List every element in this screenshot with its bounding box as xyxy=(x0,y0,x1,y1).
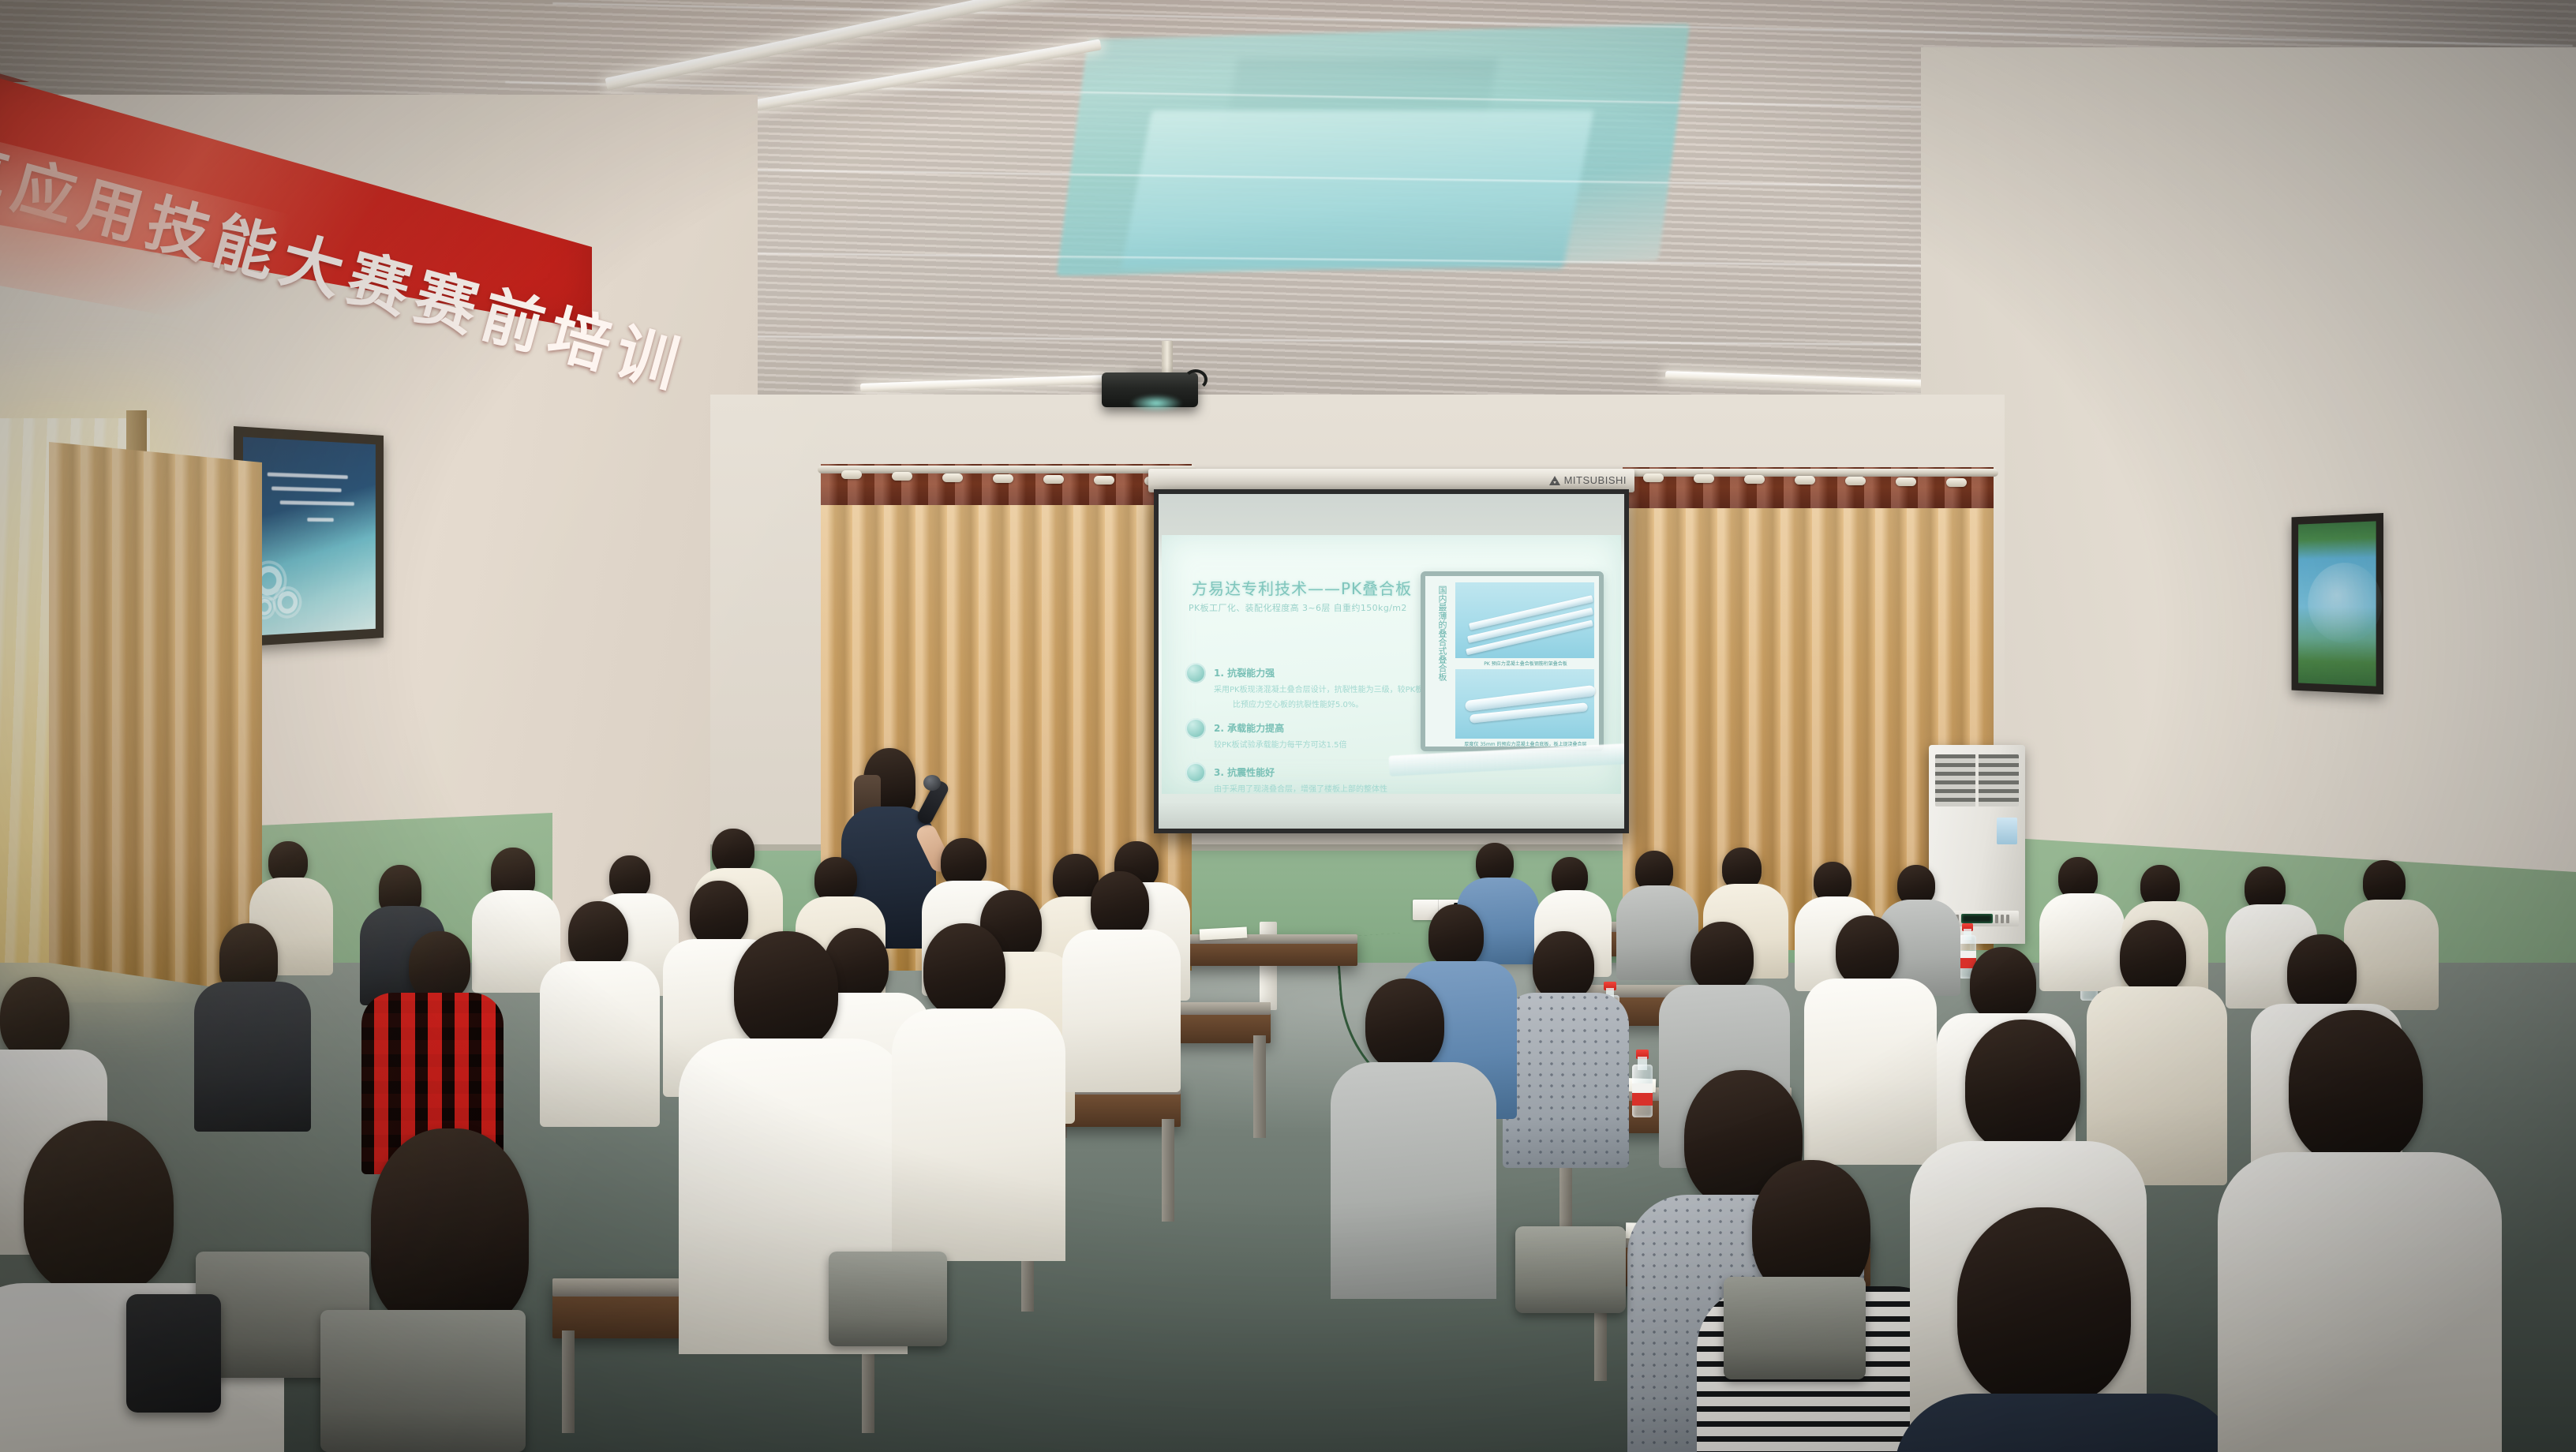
head xyxy=(1365,979,1444,1070)
torso xyxy=(1331,1062,1496,1299)
slide-bullet-1: 1. 抗裂能力强 采用PK板现浇混凝土叠合层设计，抗裂性能为三级，较PK板提高2… xyxy=(1185,666,1459,709)
torso xyxy=(1804,979,1937,1165)
slide-photo-top xyxy=(1455,582,1594,658)
classroom-seminar-photo: 真应用技能大赛赛前培训 xyxy=(0,0,2576,1452)
slide-bullet-2: 2. 承载能力提高 较PK板试验承载能力每平方可达1.5倍 xyxy=(1185,721,1347,750)
chair-back[interactable] xyxy=(1724,1277,1866,1379)
curtain-grommet xyxy=(1845,477,1866,485)
projection-screen-frame: 方易达专利技术——PK叠合板 PK板工厂化、装配化程度高 3~6层 自重约150… xyxy=(1154,489,1629,833)
curtain-grommet xyxy=(1643,473,1664,482)
bullet-badge-icon xyxy=(1185,762,1206,783)
head xyxy=(24,1121,174,1294)
slide-photo-bottom xyxy=(1455,669,1594,739)
curtain-left-window xyxy=(49,442,262,994)
slide-bullet-3: 3. 抗震性能好 由于采用了现浇叠合层，增强了楼板上部的整体性 xyxy=(1185,765,1387,794)
torso xyxy=(2218,1152,2502,1452)
torso xyxy=(1503,993,1629,1168)
poster-text-line xyxy=(307,518,334,522)
slide-image-vertical-caption: 国内最薄的叠合式叠合板 xyxy=(1430,586,1447,681)
curtain-grommet xyxy=(1694,474,1714,483)
torso xyxy=(1062,930,1181,1092)
slide-photo-caption: PK 预应力混凝土叠合板钢筋桁架叠合板 xyxy=(1457,660,1594,667)
backpack xyxy=(126,1294,221,1413)
poster-text-line xyxy=(280,500,354,506)
chair-back[interactable] xyxy=(829,1252,947,1346)
presentation-slide: 方易达专利技术——PK叠合板 PK板工厂化、装配化程度高 3~6层 自重约150… xyxy=(1162,535,1621,794)
painting-sky-highlight xyxy=(2308,562,2382,644)
head xyxy=(1091,871,1149,937)
desk-leg xyxy=(1253,1035,1266,1138)
curtain-grommet xyxy=(841,470,862,479)
curtain-grommet xyxy=(1043,475,1064,484)
torso xyxy=(194,982,311,1132)
ac-button[interactable] xyxy=(2001,915,2004,923)
curtain-grommet xyxy=(942,473,963,482)
screen-brand-text: MITSUBISHI xyxy=(1564,474,1627,486)
torso xyxy=(892,1009,1065,1261)
head xyxy=(2289,1010,2423,1165)
curtain-grommet xyxy=(892,472,912,481)
ac-button[interactable] xyxy=(1995,915,1998,923)
head xyxy=(1957,1207,2131,1405)
torso xyxy=(1894,1394,2241,1452)
screen-brand-label: MITSUBISHI xyxy=(1549,474,1627,486)
ac-display xyxy=(1961,914,1993,923)
poster-text-line xyxy=(268,473,348,479)
curtain-grommet xyxy=(1744,475,1765,484)
head xyxy=(1533,931,1594,1001)
curtain-rod xyxy=(818,466,1196,473)
head xyxy=(690,881,748,947)
desk-leg xyxy=(1162,1119,1174,1222)
torso xyxy=(1616,885,1698,980)
chair-back[interactable] xyxy=(320,1310,526,1452)
head xyxy=(2287,934,2357,1012)
ac-button[interactable] xyxy=(2006,915,2009,923)
curtain-grommet xyxy=(1795,476,1815,485)
head xyxy=(1965,1020,2080,1152)
head xyxy=(734,931,838,1050)
projector-ceiling-mount xyxy=(1162,341,1173,376)
torso xyxy=(540,961,660,1127)
head-long-hair xyxy=(371,1128,529,1326)
torso xyxy=(2344,900,2439,1010)
bullet-heading: 3. 抗震性能好 xyxy=(1214,765,1387,779)
ac-brand-label xyxy=(1997,818,2017,844)
head xyxy=(941,838,987,887)
slide-product-image-card: 国内最薄的叠合式叠合板 PK 预应力混凝土叠合板钢筋桁架叠合板 厚度仅 35mm… xyxy=(1421,571,1604,751)
gear-icon xyxy=(275,589,299,616)
ac-vent-divider xyxy=(1975,754,1979,806)
slide-title: 方易达专利技术——PK叠合板 xyxy=(1192,576,1412,599)
head xyxy=(1970,947,2036,1021)
head xyxy=(2120,920,2186,994)
bullet-badge-icon xyxy=(1185,663,1206,683)
head xyxy=(568,901,628,969)
ceiling-slide-reflection-secondary xyxy=(1121,110,1594,268)
microphone-head xyxy=(923,775,941,791)
curtain-grommet xyxy=(1946,478,1967,487)
projector-lens-glow xyxy=(1130,395,1182,412)
curtain-grommet xyxy=(1094,476,1114,485)
bullet-body-line: 较PK板试验承载能力每平方可达1.5倍 xyxy=(1214,738,1347,750)
curtain-grommet xyxy=(1896,477,1916,486)
bullet-badge-icon xyxy=(1185,718,1206,739)
poster-text-line xyxy=(271,486,342,492)
head xyxy=(923,923,1005,1016)
bottle-label xyxy=(1632,1083,1653,1106)
curtain-grommet xyxy=(993,474,1013,483)
head xyxy=(1836,915,1899,986)
head xyxy=(1428,904,1484,967)
slide-subtitle: PK板工厂化、装配化程度高 3~6层 自重约150kg/m2 xyxy=(1189,601,1407,614)
head xyxy=(1690,922,1754,993)
water-bottle[interactable] xyxy=(1632,1050,1653,1117)
bullet-heading: 2. 承载能力提高 xyxy=(1214,721,1347,735)
torso xyxy=(2039,893,2125,991)
head xyxy=(409,931,470,1001)
framed-landscape-painting xyxy=(2292,513,2383,694)
projector-cable xyxy=(1184,369,1207,390)
bullet-body-line: 由于采用了现浇叠合层，增强了楼板上部的整体性 xyxy=(1214,782,1387,794)
projection-screen-surface: 方易达专利技术——PK叠合板 PK板工厂化、装配化程度高 3~6层 自重约150… xyxy=(1159,494,1624,829)
chair-back[interactable] xyxy=(1515,1226,1626,1313)
mitsubishi-logo-icon xyxy=(1549,476,1560,485)
head xyxy=(0,977,69,1059)
